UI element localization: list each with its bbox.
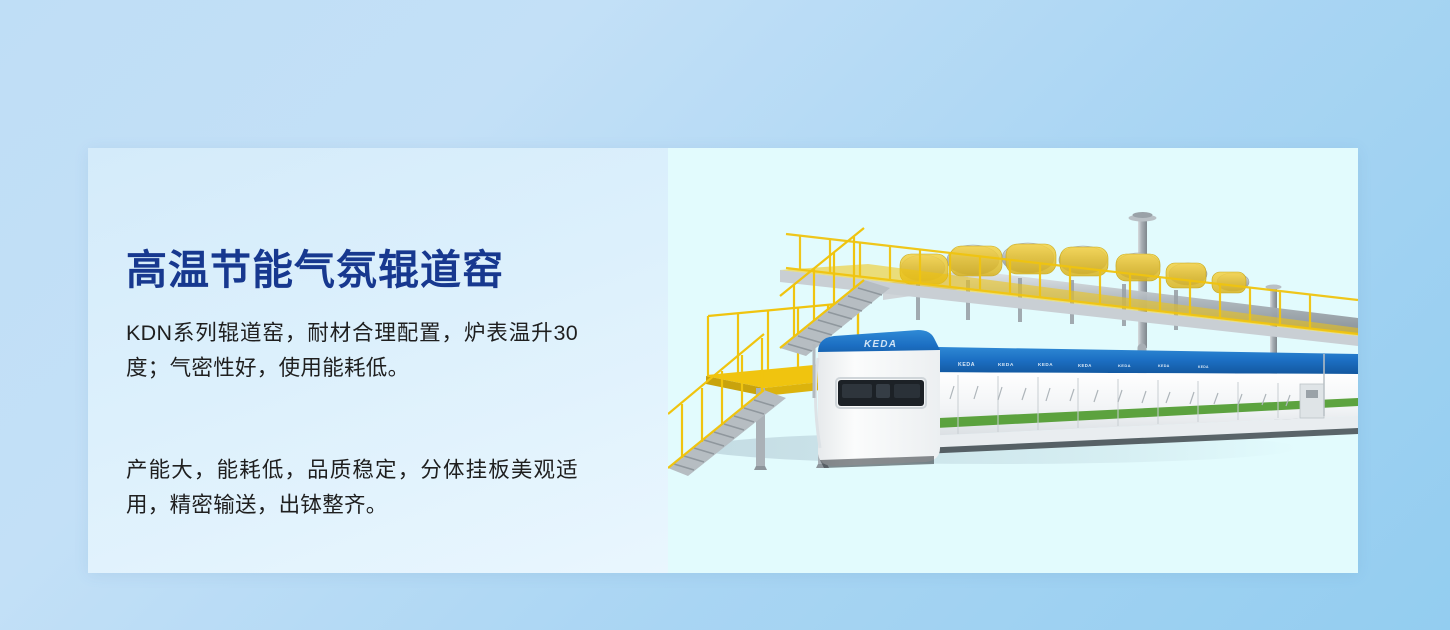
svg-text:KEDA: KEDA <box>1158 364 1170 368</box>
product-banner: 高温节能气氛辊道窑 KDN系列辊道窑，耐材合理配置，炉表温升30度；气密性好，使… <box>0 0 1450 630</box>
description-paragraph-2: 产能大，能耗低，品质稳定，分体挂板美观适用，精密输送，出钵整齐。 <box>126 453 578 523</box>
kiln-front-cabinet: KEDA <box>815 330 940 468</box>
svg-text:KEDA: KEDA <box>1198 365 1209 369</box>
svg-text:KEDA: KEDA <box>1118 363 1131 368</box>
brand-logo: KEDA <box>864 339 897 350</box>
svg-text:KEDA: KEDA <box>958 362 975 368</box>
text-panel: 高温节能气氛辊道窑 KDN系列辊道窑，耐材合理配置，炉表温升30度；气密性好，使… <box>88 148 668 573</box>
page-title: 高温节能气氛辊道窑 <box>126 248 504 293</box>
svg-text:KEDA: KEDA <box>1078 363 1092 368</box>
kiln-blue-stripe <box>878 346 1358 374</box>
description-paragraph-1: KDN系列辊道窑，耐材合理配置，炉表温升30度；气密性好，使用能耗低。 <box>126 316 578 386</box>
svg-text:KEDA: KEDA <box>1038 362 1053 367</box>
kiln-product-image: KEDA KEDA KEDA KEDA KEDA KEDA KEDA KEDA <box>668 148 1358 573</box>
image-panel: KEDA KEDA KEDA KEDA KEDA KEDA KEDA KEDA <box>668 148 1358 573</box>
product-card: 高温节能气氛辊道窑 KDN系列辊道窑，耐材合理配置，炉表温升30度；气密性好，使… <box>88 148 1358 573</box>
svg-text:KEDA: KEDA <box>998 362 1014 368</box>
